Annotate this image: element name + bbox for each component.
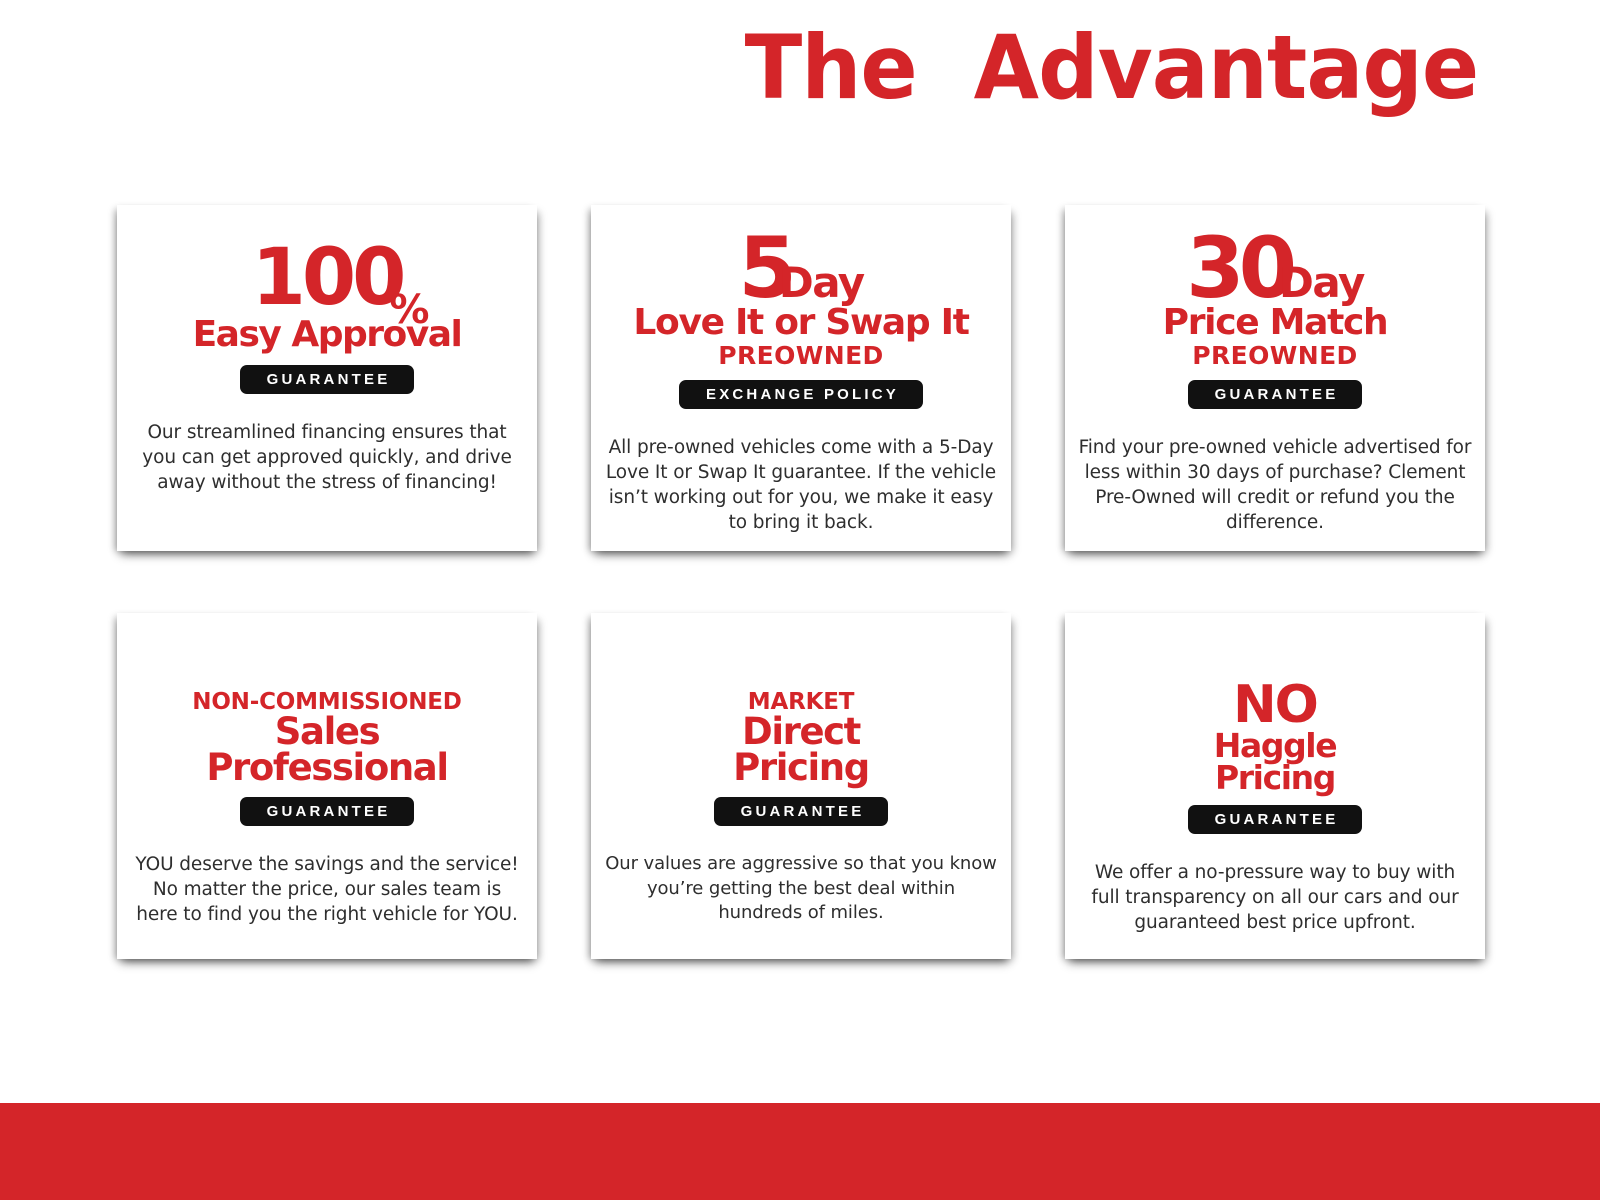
status-badge: GUARANTEE [1188,805,1363,834]
advantage-card-price-match[interactable]: 30Day Price Match PREOWNED GUARANTEE Fin… [1065,205,1485,551]
page-title: The Advantage [744,22,1478,114]
advantage-card-grid: 100% Easy Approval GUARANTEE Our streaml… [117,205,1485,959]
card-headline: MARKET Direct Pricing [605,691,997,785]
headline-word-2: Pricing [1079,762,1471,793]
card-body-text: We offer a no-pressure way to buy with f… [1078,860,1472,935]
advantage-card-sales-professional[interactable]: NON-COMMISSIONED Sales Professional GUAR… [117,613,537,959]
card-body-text: Our values are aggressive so that you kn… [604,852,998,925]
page-header: The Advantage [0,0,1600,200]
percent-sign: % [389,291,428,329]
advantage-card-no-haggle-pricing[interactable]: NO Haggle Pricing GUARANTEE We offer a n… [1065,613,1485,959]
card-headline: 30Day Price Match PREOWNED [1079,231,1471,368]
headline-big-number: 100% [252,241,403,315]
headline-day-label: Day [1279,258,1364,307]
card-headline: 100% Easy Approval [131,241,523,353]
status-badge: GUARANTEE [240,797,415,826]
card-headline: 5Day Love It or Swap It PREOWNED [605,231,997,368]
footer-brand-bar [0,1103,1600,1200]
headline-word-1: Direct [605,714,997,750]
headline-number-value: 100 [252,233,403,323]
headline-word-2: Pricing [605,750,997,786]
status-badge: EXCHANGE POLICY [679,380,923,409]
headline-word-2: Professional [131,750,523,786]
headline-preowned-label: PREOWNED [1079,343,1471,368]
status-badge: GUARANTEE [240,365,415,394]
advantage-card-easy-approval[interactable]: 100% Easy Approval GUARANTEE Our streaml… [117,205,537,551]
headline-number-value: 30 [1186,219,1291,317]
card-body-text: All pre-owned vehicles come with a 5-Day… [604,435,998,536]
advantage-card-love-it-or-swap-it[interactable]: 5Day Love It or Swap It PREOWNED EXCHANG… [591,205,1011,551]
headline-number-row: 5Day [738,231,863,307]
card-body-text: Find your pre-owned vehicle advertised f… [1078,435,1472,536]
card-headline: NO Haggle Pricing [1079,681,1471,793]
headline-word-1: Sales [131,714,523,750]
headline-eyebrow: NO [1079,681,1471,730]
advantage-card-market-direct-pricing[interactable]: MARKET Direct Pricing GUARANTEE Our valu… [591,613,1011,959]
headline-day-label: Day [779,258,864,307]
headline-number-row: 30Day [1186,231,1364,307]
card-headline: NON-COMMISSIONED Sales Professional [131,691,523,785]
headline-title: Love It or Swap It [605,305,997,341]
headline-preowned-label: PREOWNED [605,343,997,368]
card-body-text: YOU deserve the savings and the service!… [130,852,524,927]
status-badge: GUARANTEE [1188,380,1363,409]
card-body-text: Our streamlined financing ensures that y… [130,420,524,495]
status-badge: GUARANTEE [714,797,889,826]
